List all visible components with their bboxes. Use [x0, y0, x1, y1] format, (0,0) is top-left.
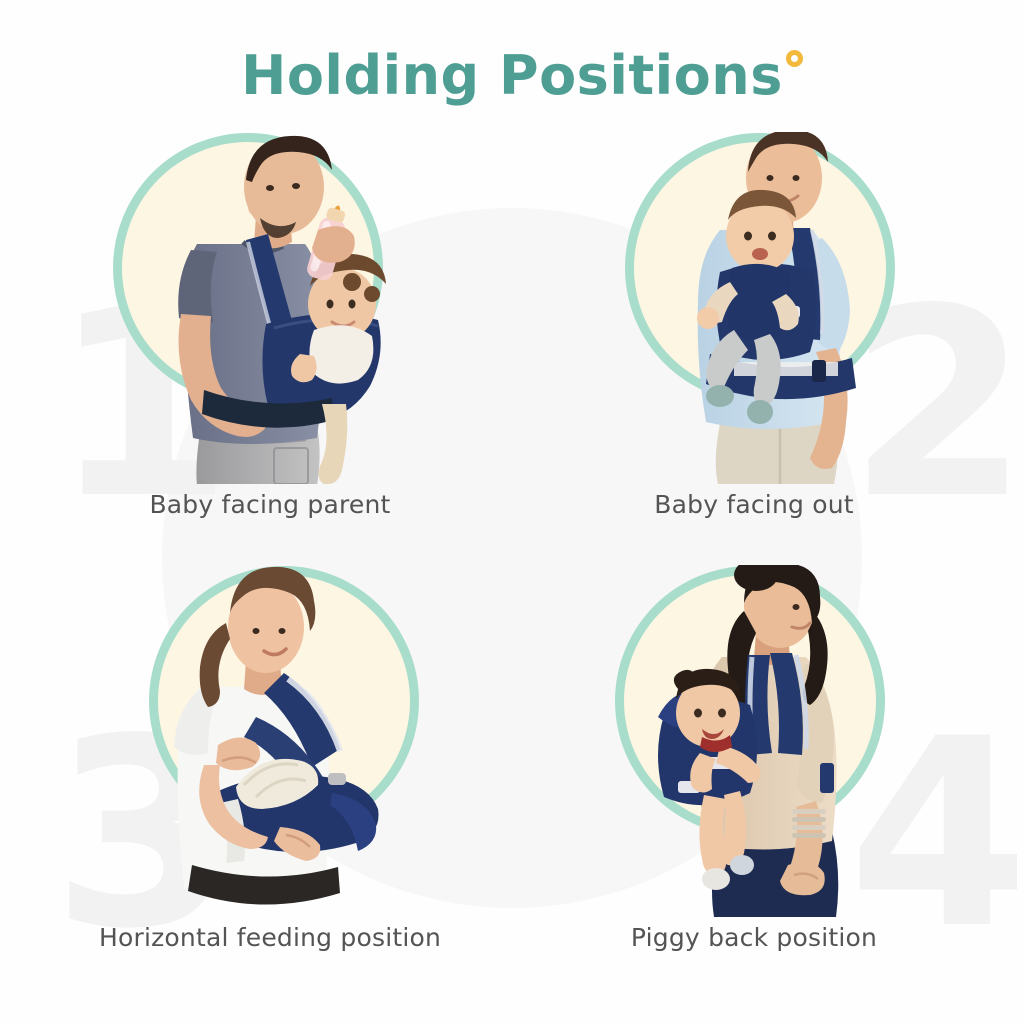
position-photo-stage-4 — [544, 565, 964, 917]
photo-baby-facing-out — [544, 132, 964, 484]
position-card-3: Horizontal feeding position — [60, 565, 480, 952]
position-caption-1: Baby facing parent — [60, 490, 480, 519]
title-accent-dot-icon — [786, 50, 803, 67]
page-title: Holding Positions — [0, 44, 1024, 107]
positions-grid: Baby facing parent — [0, 0, 1024, 1024]
position-caption-2: Baby facing out — [544, 490, 964, 519]
position-card-2: Baby facing out — [544, 132, 964, 519]
position-card-1: Baby facing parent — [60, 132, 480, 519]
position-photo-stage-1 — [60, 132, 480, 484]
position-caption-3: Horizontal feeding position — [60, 923, 480, 952]
position-card-4: Piggy back position — [544, 565, 964, 952]
holding-positions-infographic: 1 2 3 4 Holding Positions — [0, 0, 1024, 1024]
position-photo-stage-2 — [544, 132, 964, 484]
page-title-text: Holding Positions — [241, 44, 783, 107]
photo-piggy-back-position — [544, 565, 964, 917]
position-photo-stage-3 — [60, 565, 480, 917]
photo-horizontal-feeding-position — [60, 565, 480, 917]
position-caption-4: Piggy back position — [544, 923, 964, 952]
photo-baby-facing-parent — [60, 132, 480, 484]
